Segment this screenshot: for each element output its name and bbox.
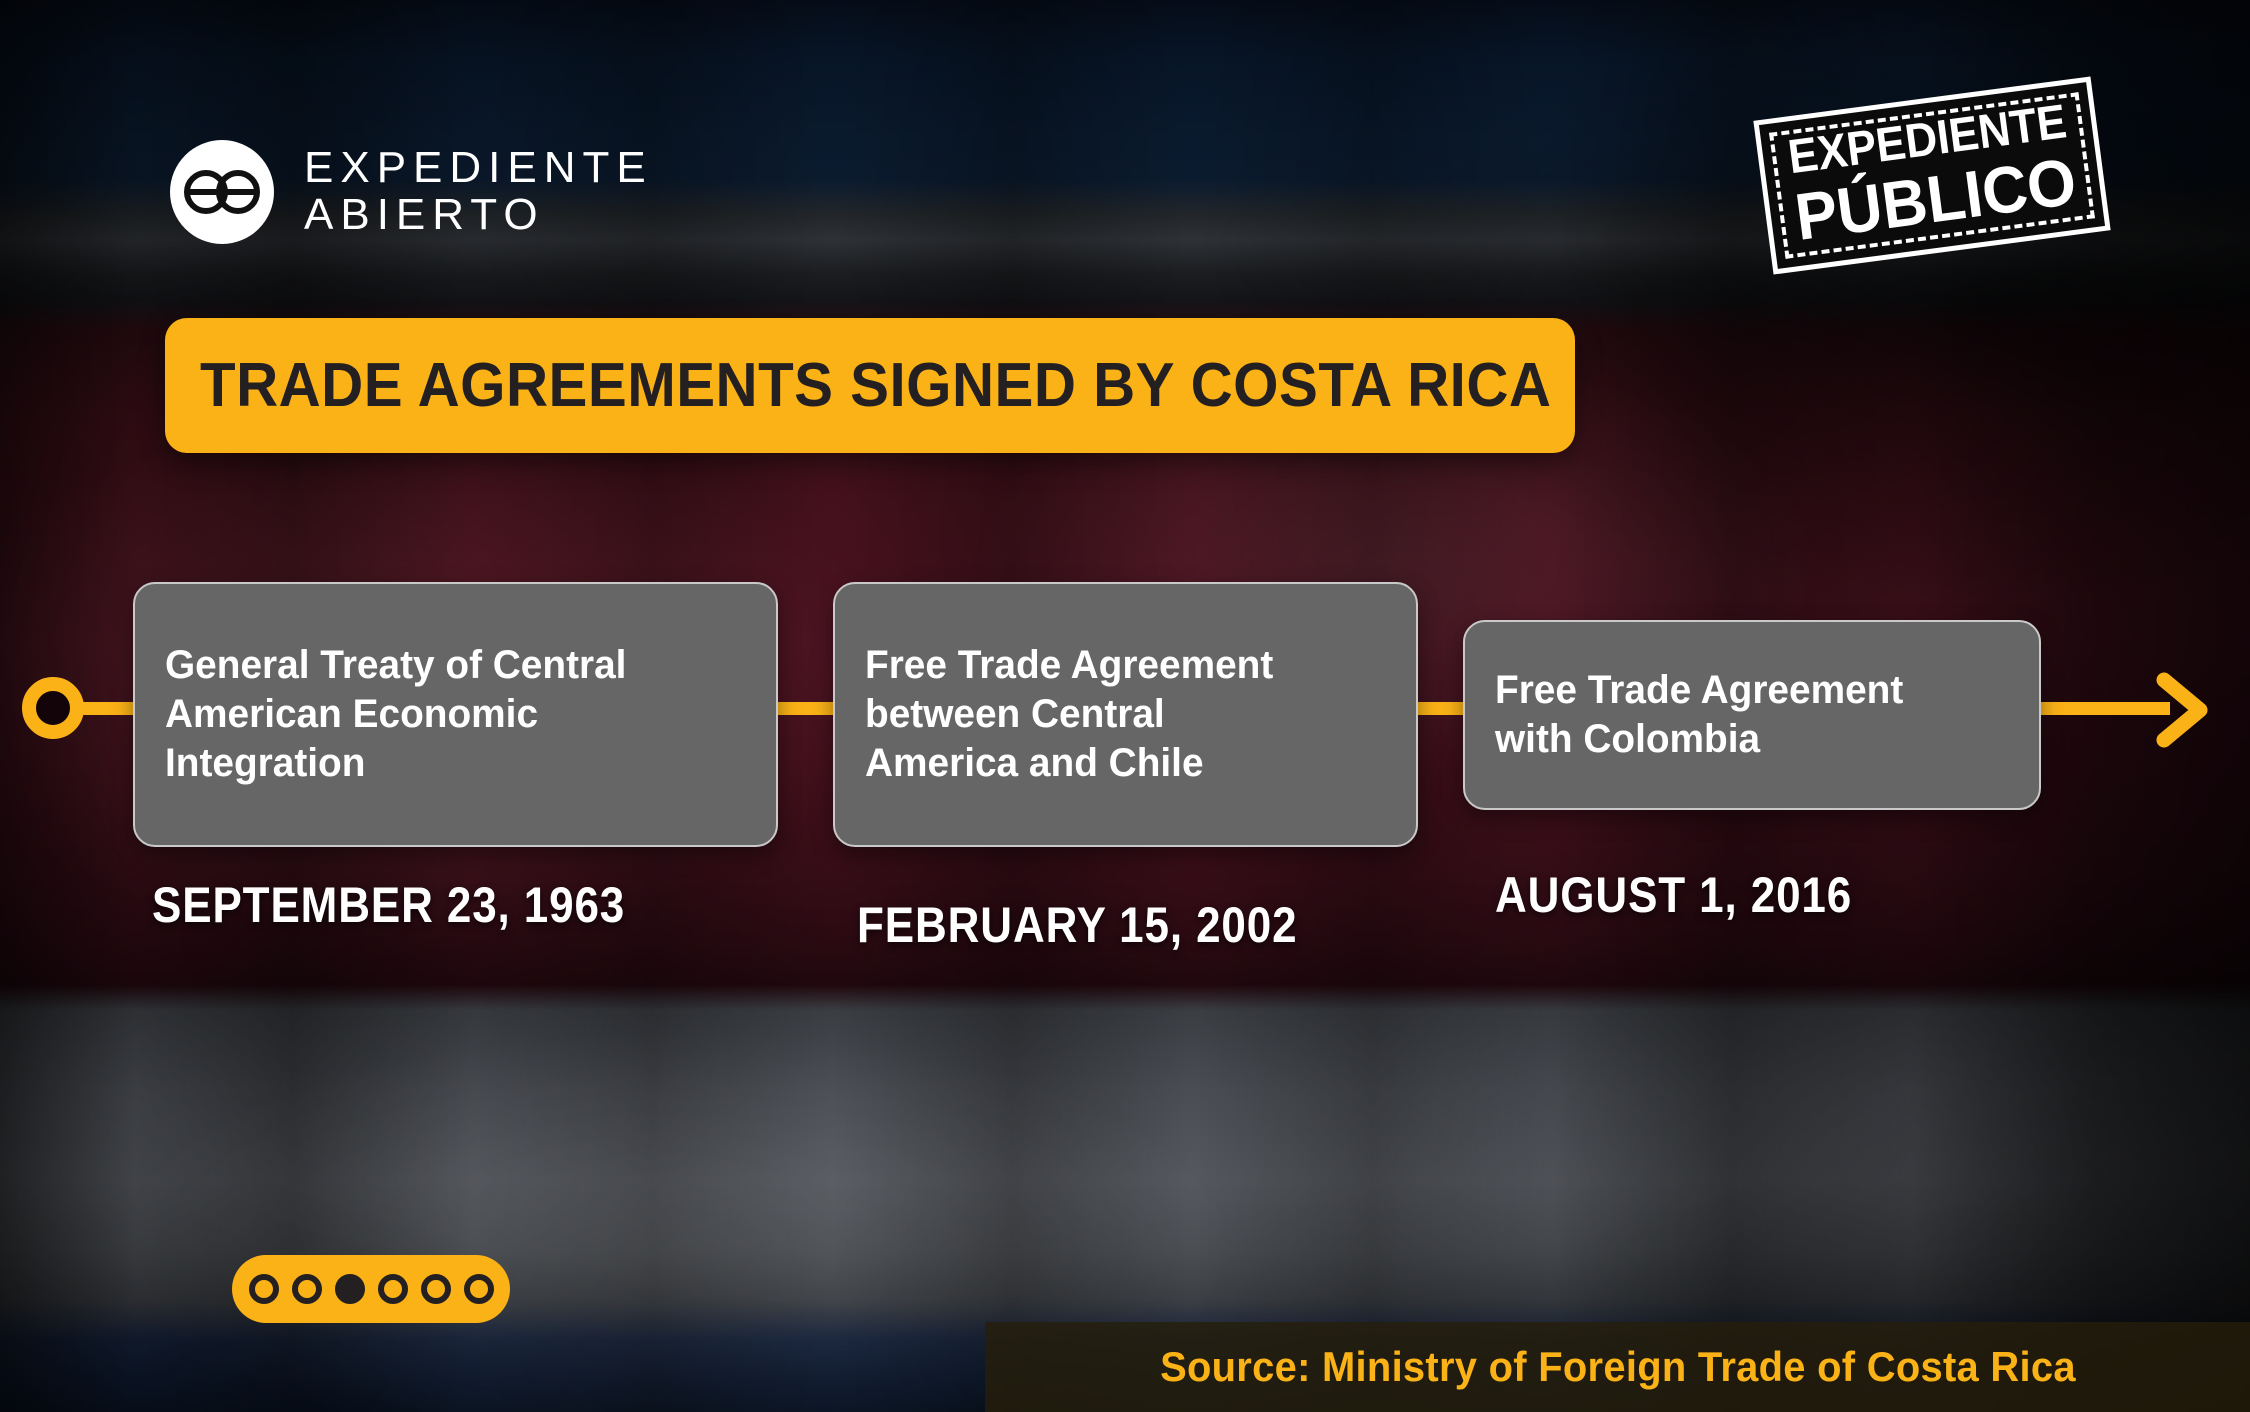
pagination-dot-1[interactable] [249,1274,279,1304]
pagination-dot-3[interactable] [335,1274,365,1304]
timeline-start-dot-icon [22,677,84,739]
timeline-card-1[interactable]: General Treaty of Central American Econo… [133,582,778,847]
timeline-connector-3 [1418,702,1466,715]
pagination-dot-2[interactable] [292,1274,322,1304]
timeline-connector-2 [775,702,840,715]
timeline-date-2: FEBRUARY 15, 2002 [857,896,1297,954]
timeline-card-3[interactable]: Free Trade Agreement with Colombia [1463,620,2041,810]
timeline-card-3-label: Free Trade Agreement with Colombia [1495,666,1903,764]
source-text: Source: Ministry of Foreign Trade of Cos… [1160,1343,2076,1391]
timeline-date-1: SEPTEMBER 23, 1963 [152,876,625,934]
timeline: General Treaty of Central American Econo… [0,0,2250,1412]
timeline-card-2[interactable]: Free Trade Agreement between Central Ame… [833,582,1418,847]
arrow-right-icon [2130,660,2230,760]
source-bar: Source: Ministry of Foreign Trade of Cos… [985,1322,2250,1412]
timeline-card-2-label: Free Trade Agreement between Central Ame… [865,641,1273,787]
timeline-date-3: AUGUST 1, 2016 [1495,866,1852,924]
pagination[interactable] [232,1255,510,1323]
timeline-card-1-label: General Treaty of Central American Econo… [165,641,626,787]
infographic-slide: EXPEDIENTE ABIERTO EXPEDIENTE PÚBLICO TR… [0,0,2250,1412]
pagination-dot-4[interactable] [378,1274,408,1304]
pagination-dot-5[interactable] [421,1274,451,1304]
pagination-dot-6[interactable] [464,1274,494,1304]
